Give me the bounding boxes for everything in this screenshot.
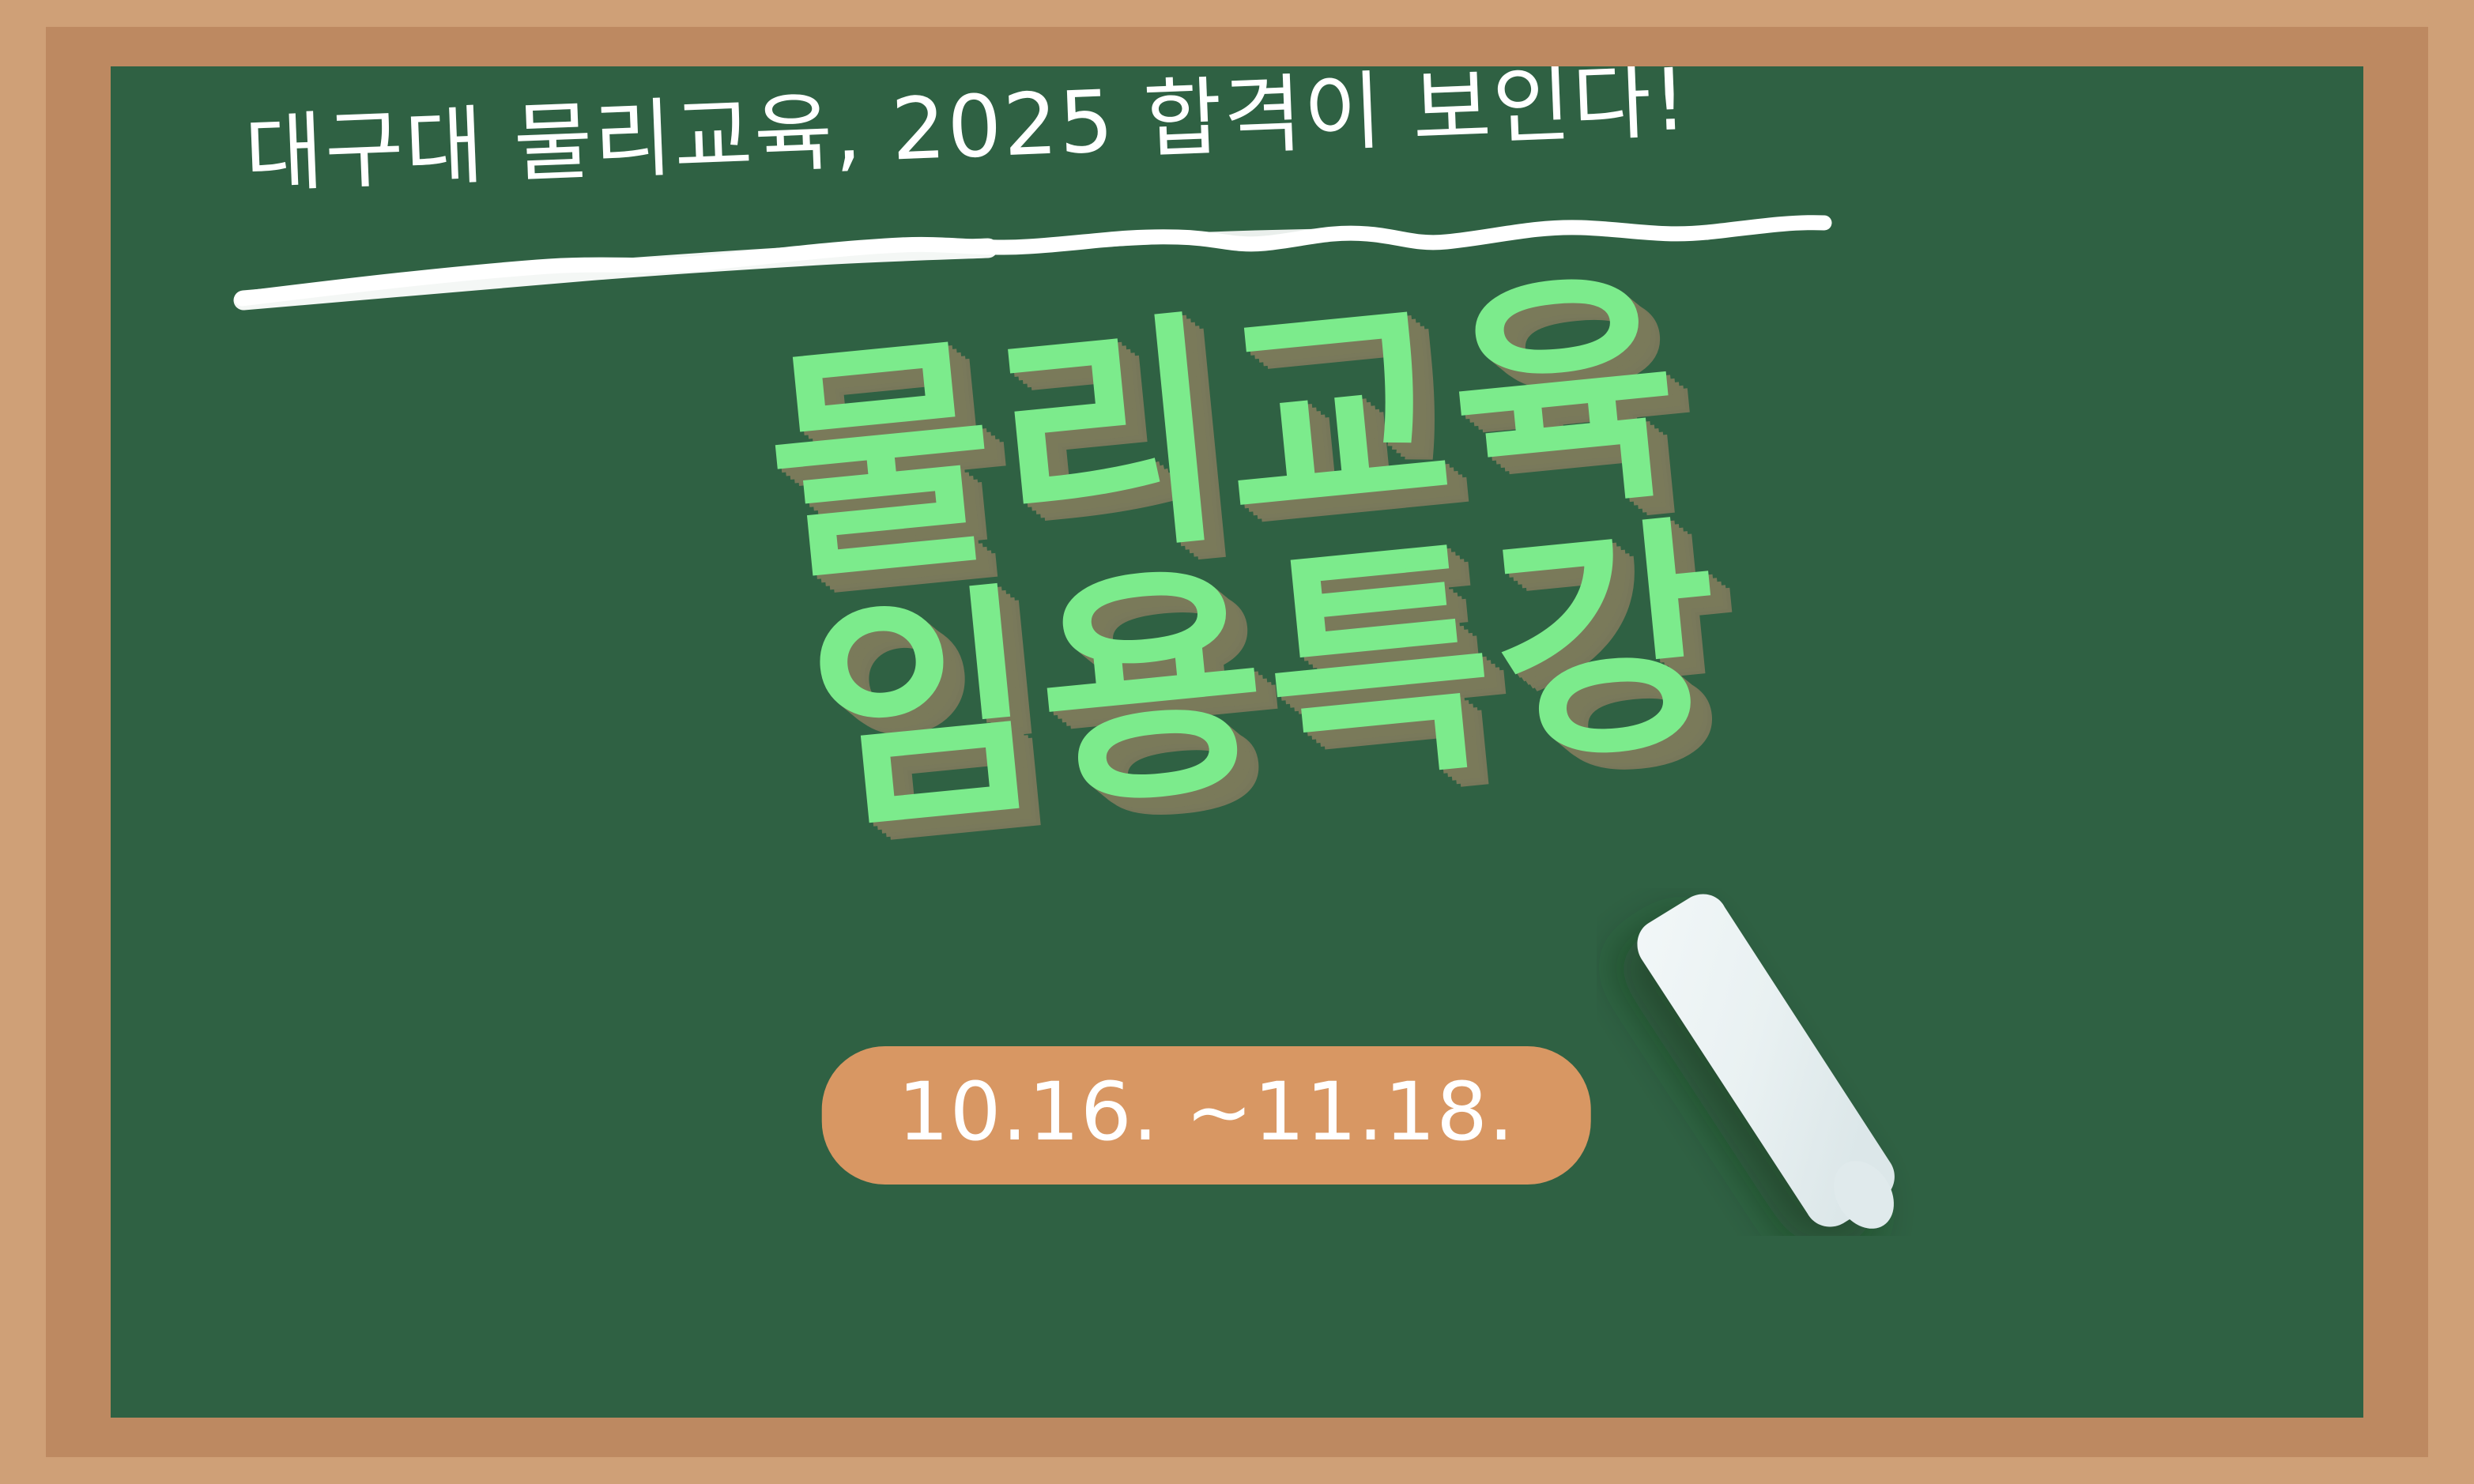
chalk-stick-group — [1597, 888, 1929, 1236]
poster-root: 대구대 물리교육, 2025 합격이 보인다! 물리교육 임용특강 10.16.… — [0, 0, 2474, 1484]
chalk-stick-icon — [1597, 888, 1929, 1236]
chalkboard: 대구대 물리교육, 2025 합격이 보인다! 물리교육 임용특강 10.16.… — [111, 66, 2363, 1418]
date-badge-label: 10.16. ~11.18. — [898, 1070, 1515, 1154]
date-badge: 10.16. ~11.18. — [822, 1046, 1591, 1185]
handwritten-headline: 대구대 물리교육, 2025 합격이 보인다! — [243, 66, 1874, 213]
main-title-block: 물리교육 임용특강 — [111, 194, 2363, 917]
